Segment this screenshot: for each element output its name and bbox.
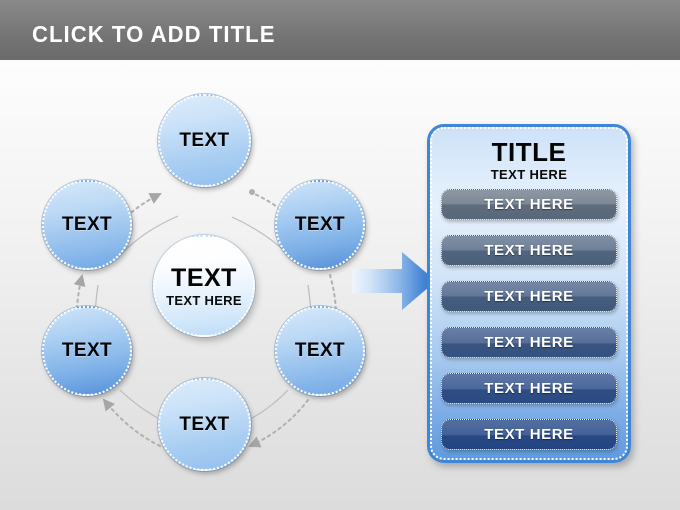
panel-bar[interactable]: TEXT HERE xyxy=(441,373,617,404)
cycle-node-label: TEXT xyxy=(62,340,112,362)
cycle-node-label: TEXT xyxy=(295,214,345,236)
cycle-node-bottom[interactable]: TEXT xyxy=(158,378,251,471)
panel-bar-list: TEXT HERE TEXT HERE TEXT HERE TEXT HERE … xyxy=(440,187,618,452)
panel-bar[interactable]: TEXT HERE xyxy=(441,235,617,266)
panel-title: TITLE xyxy=(440,139,618,166)
cycle-node-label: TEXT xyxy=(62,214,112,236)
cycle-node-label: TEXT xyxy=(179,414,229,436)
cycle-node-lower-right[interactable]: TEXT xyxy=(275,306,365,396)
panel-bar[interactable]: TEXT HERE xyxy=(441,327,617,358)
cycle-node-upper-left[interactable]: TEXT xyxy=(42,180,132,270)
cycle-diagram: TEXT TEXT TEXT TEXT TEXT TEXT TEXT TEXT … xyxy=(0,60,400,510)
cycle-center-title: TEXT xyxy=(171,266,237,291)
slide-title-bar[interactable]: CLICK TO ADD TITLE xyxy=(0,0,680,60)
page-title[interactable]: CLICK TO ADD TITLE xyxy=(32,21,275,48)
panel-subtitle: TEXT HERE xyxy=(440,167,618,182)
cycle-node-label: TEXT xyxy=(295,340,345,362)
panel-bar[interactable]: TEXT HERE xyxy=(441,419,617,450)
panel-bar[interactable]: TEXT HERE xyxy=(441,281,617,312)
cycle-node-lower-left[interactable]: TEXT xyxy=(42,306,132,396)
right-arrow-icon[interactable] xyxy=(352,250,436,312)
cycle-node-label: TEXT xyxy=(179,130,229,152)
detail-panel[interactable]: TITLE TEXT HERE TEXT HERE TEXT HERE TEXT… xyxy=(427,124,631,463)
slide-canvas: CLICK TO ADD TITLE xyxy=(0,0,680,510)
cycle-center-subtitle: TEXT HERE xyxy=(166,294,242,307)
cycle-node-top[interactable]: TEXT xyxy=(158,94,251,187)
cycle-center-node[interactable]: TEXT TEXT HERE xyxy=(153,235,255,337)
panel-bar[interactable]: TEXT HERE xyxy=(441,189,617,220)
